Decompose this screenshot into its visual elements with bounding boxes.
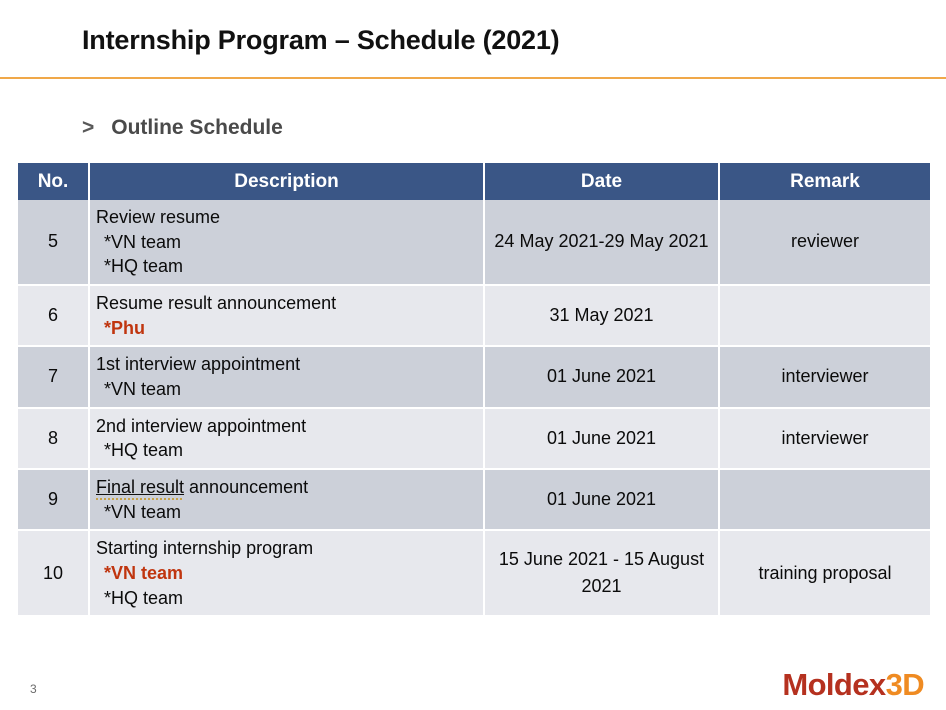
- logo-text-suffix: 3D: [886, 667, 924, 702]
- row-remark: reviewer: [719, 200, 930, 285]
- description-line-highlighted: *VN team: [96, 561, 477, 586]
- row-number: 5: [18, 200, 89, 285]
- table-header-row: No. Description Date Remark: [18, 163, 930, 200]
- table-row: 8 2nd interview appointment *HQ team 01 …: [18, 408, 930, 469]
- row-number: 9: [18, 469, 89, 530]
- row-remark: [719, 285, 930, 346]
- description-line: *VN team: [96, 230, 477, 255]
- table-row: 10 Starting internship program *VN team …: [18, 530, 930, 616]
- row-date: 31 May 2021: [484, 285, 719, 346]
- section-heading-label: Outline Schedule: [111, 117, 283, 138]
- row-number: 6: [18, 285, 89, 346]
- description-line: *HQ team: [96, 254, 477, 279]
- logo-text-primary: Moldex: [782, 667, 885, 702]
- table-row: 5 Review resume *VN team *HQ team 24 May…: [18, 200, 930, 285]
- row-remark: interviewer: [719, 346, 930, 407]
- description-line: 2nd interview appointment: [96, 414, 477, 439]
- row-number: 7: [18, 346, 89, 407]
- description-line: Final result announcement: [96, 475, 477, 500]
- description-line: *HQ team: [96, 438, 477, 463]
- row-date: 24 May 2021-29 May 2021: [484, 200, 719, 285]
- row-description: Final result announcement *VN team: [89, 469, 484, 530]
- description-line: *VN team: [96, 500, 477, 525]
- description-line: 1st interview appointment: [96, 352, 477, 377]
- row-description: 2nd interview appointment *HQ team: [89, 408, 484, 469]
- description-line: Review resume: [96, 205, 477, 230]
- column-header-description: Description: [89, 163, 484, 200]
- column-header-no: No.: [18, 163, 89, 200]
- table-row: 9 Final result announcement *VN team 01 …: [18, 469, 930, 530]
- row-description: Review resume *VN team *HQ team: [89, 200, 484, 285]
- row-number: 10: [18, 530, 89, 616]
- column-header-remark: Remark: [719, 163, 930, 200]
- row-date: 15 June 2021 - 15 August 2021: [484, 530, 719, 616]
- description-line-rest: announcement: [184, 477, 308, 497]
- title-divider: [0, 77, 946, 79]
- row-date: 01 June 2021: [484, 346, 719, 407]
- row-date: 01 June 2021: [484, 408, 719, 469]
- moldex3d-logo: Moldex3D: [782, 669, 924, 700]
- row-remark: [719, 469, 930, 530]
- table-row: 7 1st interview appointment *VN team 01 …: [18, 346, 930, 407]
- column-header-date: Date: [484, 163, 719, 200]
- table-row: 6 Resume result announcement *Phu 31 May…: [18, 285, 930, 346]
- row-remark: training proposal: [719, 530, 930, 616]
- title-bar: Internship Program – Schedule (2021): [0, 0, 946, 79]
- description-line: Starting internship program: [96, 536, 477, 561]
- section-heading: > Outline Schedule: [82, 117, 283, 138]
- page-title: Internship Program – Schedule (2021): [82, 25, 559, 56]
- outline-schedule-table: No. Description Date Remark 5 Review res…: [18, 163, 930, 617]
- row-description: 1st interview appointment *VN team: [89, 346, 484, 407]
- description-line: Resume result announcement: [96, 291, 477, 316]
- page-number: 3: [30, 682, 37, 696]
- description-line-highlighted: *Phu: [96, 316, 477, 341]
- row-description: Resume result announcement *Phu: [89, 285, 484, 346]
- row-remark: interviewer: [719, 408, 930, 469]
- grammar-flagged-text: Final result: [96, 477, 184, 497]
- description-line: *HQ team: [96, 586, 477, 611]
- description-line: *VN team: [96, 377, 477, 402]
- row-number: 8: [18, 408, 89, 469]
- row-description: Starting internship program *VN team *HQ…: [89, 530, 484, 616]
- slide: Internship Program – Schedule (2021) > O…: [0, 0, 946, 710]
- chevron-right-icon: >: [82, 117, 94, 138]
- row-date: 01 June 2021: [484, 469, 719, 530]
